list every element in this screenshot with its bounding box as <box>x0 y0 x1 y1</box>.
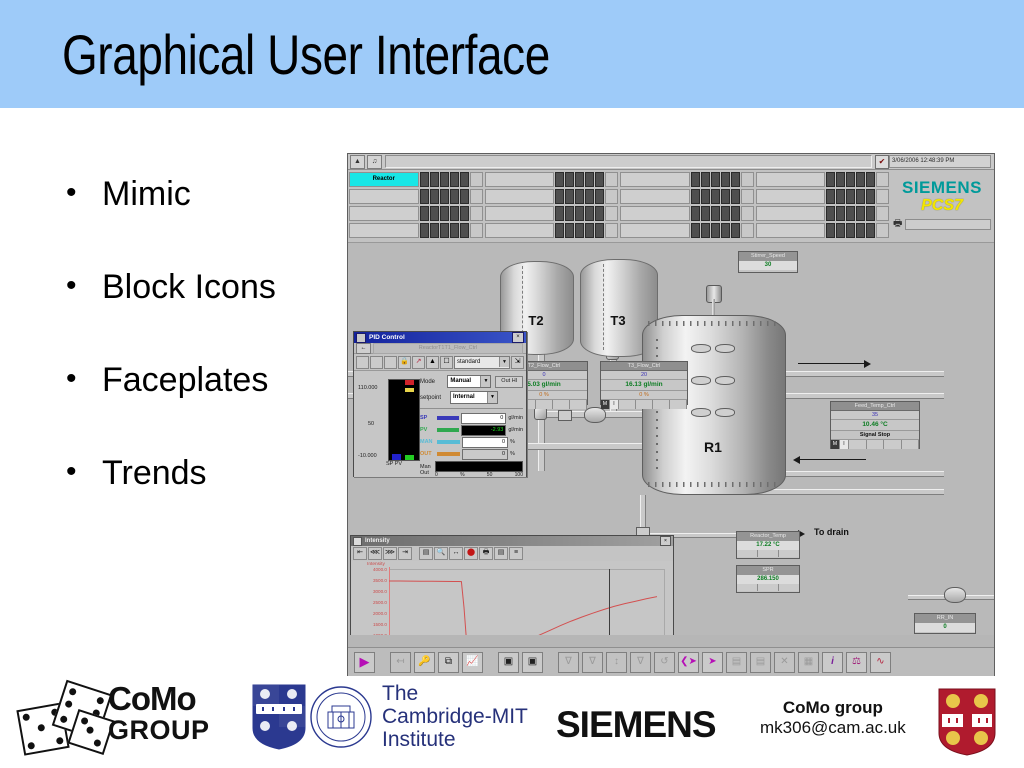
window2-icon[interactable]: ▣ <box>522 652 543 673</box>
matrix-cell[interactable] <box>826 206 835 221</box>
matrix-cell[interactable] <box>420 223 429 238</box>
contact-group: CoMo group <box>760 698 906 718</box>
man-field[interactable]: 0 <box>462 437 508 448</box>
y-tick: 1500.0 <box>359 622 387 627</box>
matrix-cell[interactable] <box>595 189 604 204</box>
matrix-cell[interactable] <box>856 189 865 204</box>
tool-blank2-icon[interactable] <box>370 356 383 369</box>
cmi-line2: Cambridge-MIT <box>382 705 528 728</box>
matrix-cell[interactable] <box>565 223 574 238</box>
matrix-row <box>756 206 890 221</box>
area-button[interactable] <box>756 206 826 221</box>
mit-seal-icon <box>310 686 372 748</box>
siemens-logo: SIEMENS <box>902 179 982 197</box>
acknowledge-icon[interactable]: ✔ <box>875 155 889 169</box>
matrix-trailer[interactable] <box>876 172 889 187</box>
matrix-cell[interactable] <box>595 172 604 187</box>
back-arrow-icon[interactable]: ← <box>356 343 371 354</box>
matrix-cell[interactable] <box>846 189 855 204</box>
matrix-cell[interactable] <box>575 189 584 204</box>
alarm-bell-icon[interactable]: ▲ <box>426 356 439 369</box>
block-state[interactable] <box>902 440 920 449</box>
matrix-cell[interactable] <box>856 206 865 221</box>
matrix-cell[interactable] <box>731 206 740 221</box>
matrix-row: Reactor <box>349 172 483 187</box>
next-icon[interactable]: ➤ <box>702 652 723 673</box>
ruler-icon[interactable]: ↔ <box>449 547 463 560</box>
matrix-trailer[interactable] <box>470 172 483 187</box>
sp-minibar <box>437 416 460 420</box>
pv-field: -2.93 <box>461 425 506 436</box>
y-tick: 1000.0 <box>359 633 387 635</box>
matrix-row <box>349 206 483 221</box>
matrix-column <box>620 172 754 240</box>
tick-100: 100 <box>515 472 523 478</box>
matrix-trailer[interactable] <box>605 206 618 221</box>
alarm-icon[interactable]: ▲ <box>350 155 365 169</box>
expand-icon[interactable]: ⇲ <box>511 356 524 369</box>
list-item: • Trends <box>58 455 358 491</box>
next-page-icon[interactable]: ⋙ <box>383 547 397 560</box>
tool-blank-icon[interactable] <box>356 356 369 369</box>
matrix-cell[interactable] <box>846 206 855 221</box>
block-state[interactable] <box>884 440 902 449</box>
list-item: • Mimic <box>58 176 358 212</box>
matrix-cell[interactable] <box>565 206 574 221</box>
contact-block: CoMo group mk306@cam.ac.uk <box>760 698 906 738</box>
block-mode-int[interactable]: I <box>610 400 619 409</box>
window-icon[interactable]: ▣ <box>498 652 519 673</box>
man-minibar <box>437 440 460 444</box>
y-tick: 2500.0 <box>359 600 387 605</box>
mimic-canvas: T2 T3 Stirrer_Speed 30 R1 <box>348 243 994 635</box>
matrix-cell[interactable] <box>430 172 439 187</box>
block-icon-feed-temp[interactable]: Feed_Temp_Ctrl 35 10.46 °C Signal Stop M… <box>830 401 920 449</box>
undo-icon[interactable]: ↺ <box>654 652 675 673</box>
matrix-cell[interactable] <box>691 223 700 238</box>
sp-field[interactable]: 0 <box>461 413 506 424</box>
block-mode-key[interactable]: M <box>831 440 840 449</box>
message-line <box>385 155 872 168</box>
matrix-cell[interactable] <box>565 172 574 187</box>
trend-title: Intensity <box>365 538 660 544</box>
matrix-cell[interactable] <box>585 172 594 187</box>
block-setpoint: 20 <box>601 371 687 380</box>
matrix-cell[interactable] <box>691 206 700 221</box>
reactor-label: R1 <box>642 439 784 455</box>
matrix-cell[interactable] <box>866 172 875 187</box>
siemens-footer-logo: SIEMENS <box>556 704 716 746</box>
matrix-cell[interactable] <box>450 172 459 187</box>
matrix-cell[interactable] <box>460 223 469 238</box>
tag-value: 286.150 <box>737 575 799 584</box>
matrix-cell[interactable] <box>826 189 835 204</box>
key-icon[interactable]: 🔑 <box>414 652 435 673</box>
valve-icon[interactable] <box>558 410 572 421</box>
matrix-cell[interactable] <box>575 172 584 187</box>
tank-label: T2 <box>500 313 572 328</box>
matrix-cell[interactable] <box>721 172 730 187</box>
chevron-down-icon: ▼ <box>499 357 509 367</box>
matrix-trailer[interactable] <box>741 189 754 204</box>
area-button[interactable] <box>485 223 555 238</box>
trend-titlebar[interactable]: Intensity × <box>351 536 673 546</box>
matrix-cell[interactable] <box>450 206 459 221</box>
como-logo: CoMo GROUP <box>108 682 210 745</box>
block-state[interactable] <box>570 400 587 409</box>
cmi-logo: The Cambridge-MIT Institute <box>252 682 528 751</box>
block-state[interactable] <box>670 400 687 409</box>
matrix-cell[interactable] <box>846 172 855 187</box>
matrix-cell[interactable] <box>450 189 459 204</box>
matrix-trailer[interactable] <box>741 223 754 238</box>
tag-header: RR_IN <box>915 614 975 623</box>
matrix-cell[interactable] <box>711 206 720 221</box>
bullet-marker-icon: • <box>58 362 102 396</box>
matrix-cell[interactable] <box>721 206 730 221</box>
man-unit: % <box>510 439 515 445</box>
close-x-icon[interactable]: ✕ <box>774 652 795 673</box>
block-state[interactable] <box>653 400 670 409</box>
brand-box: SIEMENS PCS7 🖶 <box>890 170 994 242</box>
flow-arrow-line <box>800 459 866 460</box>
block-state[interactable] <box>849 440 867 449</box>
first-icon[interactable]: ⇤ <box>353 547 367 560</box>
impeller-icon <box>691 343 735 352</box>
block-state[interactable] <box>619 400 636 409</box>
dice-icon <box>20 684 116 748</box>
matrix-trailer[interactable] <box>470 189 483 204</box>
matrix-cell[interactable] <box>711 223 720 238</box>
y-tick: 2000.0 <box>359 611 387 616</box>
pcs7-logo: PCS7 <box>921 197 963 214</box>
area-button[interactable] <box>620 189 690 204</box>
window-icon <box>353 537 362 546</box>
cmi-line3: Institute <box>382 728 528 751</box>
cmi-text: The Cambridge-MIT Institute <box>382 682 528 751</box>
matrix-cell[interactable] <box>440 172 449 187</box>
block-icon-t3-flow[interactable]: T3_Flow_Ctrl 20 16.13 gl/min 0 % M I <box>600 361 688 405</box>
matrix-cell[interactable] <box>826 223 835 238</box>
matrix-cell[interactable] <box>836 172 845 187</box>
filter1-icon[interactable]: ∇ <box>558 652 579 673</box>
out-unit: % <box>510 451 515 457</box>
zoom-area-icon[interactable]: ▤ <box>419 547 433 560</box>
matrix-cell[interactable] <box>826 172 835 187</box>
horn-icon[interactable]: ♫ <box>367 155 382 169</box>
to-drain-label: To drain <box>814 527 849 537</box>
filter2-icon[interactable]: ∇ <box>582 652 603 673</box>
report-icon[interactable]: ▦ <box>798 652 819 673</box>
matrix-cell[interactable] <box>440 223 449 238</box>
block-state[interactable] <box>536 400 553 409</box>
filter3-icon[interactable]: ∇ <box>630 652 651 673</box>
area-button[interactable] <box>349 189 419 204</box>
matrix-row <box>349 189 483 204</box>
matrix-trailer[interactable] <box>741 206 754 221</box>
trend-window[interactable]: Intensity × ⇤ ⋘ ⋙ ⇥ ▤ 🔍 ↔ ⬤ 🖶 ▤ ≡ <box>350 535 674 635</box>
matrix-row <box>620 172 754 187</box>
matrix-trailer[interactable] <box>470 206 483 221</box>
mode-label: Mode <box>420 379 447 385</box>
block-message: Signal Stop <box>831 431 919 440</box>
ack-icon[interactable]: ⚖ <box>846 652 867 673</box>
trend-series <box>389 569 657 635</box>
matrix-cell[interactable] <box>701 223 710 238</box>
trend-cursor[interactable] <box>609 569 610 635</box>
matrix-row <box>485 206 619 221</box>
matrix-cell[interactable] <box>836 189 845 204</box>
close-icon[interactable]: × <box>512 332 524 343</box>
pump-icon-right[interactable] <box>944 587 966 603</box>
lock-icon[interactable]: 🔒 <box>398 356 411 369</box>
impeller-icon <box>691 375 735 384</box>
matrix-cell[interactable] <box>555 172 564 187</box>
bullet-marker-icon: • <box>58 176 102 210</box>
matrix-cell[interactable] <box>866 189 875 204</box>
faceplate-bargraph: 110.000 50 -10.000 SP PV <box>358 377 418 467</box>
matrix-cell[interactable] <box>430 223 439 238</box>
block-value: 16.13 gl/min <box>601 380 687 391</box>
zoom-icon[interactable]: 🔍 <box>434 547 448 560</box>
area-button[interactable] <box>620 172 690 187</box>
matrix-cell[interactable] <box>721 189 730 204</box>
matrix-cell[interactable] <box>420 206 429 221</box>
matrix-cell[interactable] <box>701 172 710 187</box>
tag-header: SPR <box>737 566 799 575</box>
area-button[interactable] <box>349 223 419 238</box>
flow-arrow-left-icon <box>793 456 800 464</box>
play-icon[interactable]: ▶ <box>354 652 375 673</box>
tag-value: 17.22 °C <box>737 541 799 550</box>
faceplate-row-pv: PV -2.93 gl/min <box>420 425 523 435</box>
matrix-cell[interactable] <box>430 206 439 221</box>
matrix-cell[interactable] <box>460 189 469 204</box>
stirrer-speed-tag[interactable]: Stirrer_Speed 30 <box>738 251 798 273</box>
matrix-cell[interactable] <box>555 223 564 238</box>
prev-icon[interactable]: ❮➤ <box>678 652 699 673</box>
printer-icon[interactable]: 🖶 <box>893 216 902 233</box>
settings-icon[interactable]: ≡ <box>509 547 523 560</box>
matrix-trailer[interactable] <box>470 223 483 238</box>
matrix-cell[interactable] <box>575 206 584 221</box>
block-header: Feed_Temp_Ctrl <box>831 402 919 411</box>
matrix-cell[interactable] <box>701 206 710 221</box>
bullet-label: Block Icons <box>102 269 276 305</box>
como-line1: CoMo <box>108 682 210 716</box>
matrix-cell[interactable] <box>701 189 710 204</box>
page1-icon[interactable]: ▤ <box>726 652 747 673</box>
prev-page-icon[interactable]: ⋘ <box>368 547 382 560</box>
bullet-label: Mimic <box>102 176 191 212</box>
tag-rr-in[interactable]: RR_IN 0 <box>914 613 976 634</box>
bar-labels: SP PV <box>386 461 402 467</box>
table-icon[interactable]: ▤ <box>494 547 508 560</box>
out-tag: OUT <box>420 451 437 457</box>
copy-icon[interactable]: ⧉ <box>438 652 459 673</box>
matrix-cell[interactable] <box>866 206 875 221</box>
matrix-trailer[interactable] <box>741 172 754 187</box>
area-button[interactable] <box>756 172 826 187</box>
matrix-trailer[interactable] <box>605 189 618 204</box>
print-icon[interactable]: 🖶 <box>479 547 493 560</box>
area-button[interactable] <box>620 223 690 238</box>
matrix-trailer[interactable] <box>605 223 618 238</box>
matrix-row <box>620 223 754 238</box>
out-field: 0 <box>462 449 508 460</box>
pid-faceplate-window[interactable]: PID Control × ← ReactorT1T1_Flow_Ctrl 🔒 … <box>353 331 527 477</box>
slide: Graphical User Interface • Mimic • Block… <box>0 0 1024 768</box>
bullet-label: Trends <box>102 455 207 491</box>
matrix-cell[interactable] <box>691 172 700 187</box>
area-button[interactable] <box>756 223 826 238</box>
trend-icon[interactable]: ↗ <box>412 356 425 369</box>
matrix-row <box>620 206 754 221</box>
chart-icon[interactable]: 📈 <box>462 652 483 673</box>
matrix-cell[interactable] <box>585 189 594 204</box>
scada-top-strip: ▲ ♫ ✔ 3/06/2006 12:48:39 PM <box>348 154 994 170</box>
matrix-cell[interactable] <box>595 223 604 238</box>
page2-icon[interactable]: ▤ <box>750 652 771 673</box>
tag-value: 30 <box>739 261 797 270</box>
tag-spr[interactable]: SPR 286.150 <box>736 565 800 593</box>
matrix-column <box>756 172 890 240</box>
block-header: T3_Flow_Ctrl <box>601 362 687 371</box>
view-select[interactable]: standard▼ <box>454 356 510 369</box>
matrix-cell[interactable] <box>555 206 564 221</box>
tick-50: 50 <box>487 472 493 478</box>
matrix-trailer[interactable] <box>605 172 618 187</box>
matrix-cell[interactable] <box>731 189 740 204</box>
matrix-cell[interactable] <box>836 223 845 238</box>
matrix-cell[interactable] <box>440 206 449 221</box>
bullet-list: • Mimic • Block Icons • Faceplates • Tre… <box>58 176 358 548</box>
matrix-cell[interactable] <box>585 206 594 221</box>
area-button[interactable] <box>485 172 555 187</box>
logoff-icon[interactable]: ↤ <box>390 652 411 673</box>
matrix-cell[interactable] <box>585 223 594 238</box>
faceplate-titlebar[interactable]: PID Control × <box>354 332 526 343</box>
matrix-cell[interactable] <box>856 172 865 187</box>
matrix-cell[interactable] <box>691 189 700 204</box>
matrix-cell[interactable] <box>440 189 449 204</box>
tag-header: Reactor_Temp <box>737 532 799 541</box>
man-out-slider[interactable]: Man Out 0 % 50 100 <box>420 461 523 478</box>
matrix-row <box>485 172 619 187</box>
matrix-cell[interactable] <box>711 172 720 187</box>
status-field <box>905 219 991 230</box>
matrix-cell[interactable] <box>555 189 564 204</box>
faceplate-path: ReactorT1T1_Flow_Ctrl <box>373 343 523 354</box>
matrix-cell[interactable] <box>420 189 429 204</box>
matrix-column: Reactor <box>349 172 483 240</box>
matrix-cell[interactable] <box>565 189 574 204</box>
matrix-cell[interactable] <box>575 223 584 238</box>
msg-icon[interactable]: ☐ <box>440 356 453 369</box>
block-mode-int[interactable]: I <box>840 440 849 449</box>
chevron-down-icon: ▼ <box>487 392 497 403</box>
faceplate-row-man: MAN 0 % <box>420 437 523 447</box>
matrix-cell[interactable] <box>731 172 740 187</box>
matrix-cell[interactable] <box>866 223 875 238</box>
pv-unit: gl/min <box>508 427 523 433</box>
matrix-column <box>485 172 619 240</box>
matrix-row <box>756 223 890 238</box>
block-state[interactable] <box>636 400 653 409</box>
window-icon <box>356 333 366 343</box>
area-button[interactable] <box>620 206 690 221</box>
pv-minibar <box>437 428 460 432</box>
matrix-cell[interactable] <box>595 206 604 221</box>
block-mode-key[interactable]: M <box>601 400 610 409</box>
area-button[interactable] <box>349 206 419 221</box>
matrix-cell[interactable] <box>846 223 855 238</box>
area-button[interactable] <box>756 189 826 204</box>
y-tick: 3000.0 <box>359 589 387 594</box>
info-icon[interactable]: i <box>822 652 843 673</box>
tick-pct: % <box>460 472 464 478</box>
matrix-cell[interactable] <box>460 172 469 187</box>
matrix-cell[interactable] <box>430 189 439 204</box>
scale-top: 110.000 <box>358 385 377 391</box>
close-icon[interactable]: × <box>660 536 671 546</box>
matrix-cell[interactable] <box>420 172 429 187</box>
tool-blank3-icon[interactable] <box>384 356 397 369</box>
matrix-cell[interactable] <box>721 223 730 238</box>
bullet-marker-icon: • <box>58 455 102 489</box>
matrix-cell[interactable] <box>460 206 469 221</box>
block-value: 10.46 °C <box>831 420 919 431</box>
area-button-matrix: Reactor <box>348 170 994 243</box>
thermometer-icon[interactable]: ↕ <box>606 652 627 673</box>
tag-reactor-temp[interactable]: Reactor_Temp 17.22 °C <box>736 531 800 559</box>
cmi-line1: The <box>382 682 528 705</box>
matrix-cell[interactable] <box>836 206 845 221</box>
faceplate-pathbar: ← ReactorT1T1_Flow_Ctrl <box>354 343 526 354</box>
trend-pen-icon[interactable]: ∿ <box>870 652 891 673</box>
faceplate-row-sp: SP 0 gl/min <box>420 413 523 423</box>
matrix-row <box>485 223 619 238</box>
stop-icon[interactable]: ⬤ <box>464 547 478 560</box>
block-state[interactable] <box>867 440 885 449</box>
block-state[interactable] <box>553 400 570 409</box>
matrix-row <box>485 189 619 204</box>
area-button-reactor[interactable]: Reactor <box>349 172 419 187</box>
area-button[interactable] <box>485 189 555 204</box>
setpoint-select[interactable]: Internal▼ <box>450 391 498 404</box>
pump-icon[interactable] <box>584 407 606 423</box>
tick-0: 0 <box>435 472 438 478</box>
block-output: 0 % <box>601 391 687 400</box>
matrix-cell[interactable] <box>711 189 720 204</box>
title-banner: Graphical User Interface <box>0 0 1024 108</box>
matrix-trailer[interactable] <box>876 189 889 204</box>
pv-bar <box>405 455 414 460</box>
bullet-label: Faceplates <box>102 362 268 398</box>
area-button[interactable] <box>485 206 555 221</box>
last-icon[interactable]: ⇥ <box>398 547 412 560</box>
sp-tag: SP <box>420 415 437 421</box>
como-line2: GROUP <box>108 716 210 745</box>
matrix-cell[interactable] <box>856 223 865 238</box>
matrix-cell[interactable] <box>731 223 740 238</box>
clock-display: 3/06/2006 12:48:39 PM <box>889 155 991 168</box>
matrix-cell[interactable] <box>450 223 459 238</box>
chevron-down-icon: ▼ <box>480 376 490 387</box>
matrix-row <box>349 223 483 238</box>
mode-select[interactable]: Manual▼ <box>447 375 491 388</box>
scada-bottom-toolbar: ▶ ↤ 🔑 ⧉ 📈 ▣ ▣ ∇ ∇ ↕ ∇ ↺ ❮➤ ➤ ▤ ▤ ✕ ▦ i ⚖… <box>348 647 995 676</box>
